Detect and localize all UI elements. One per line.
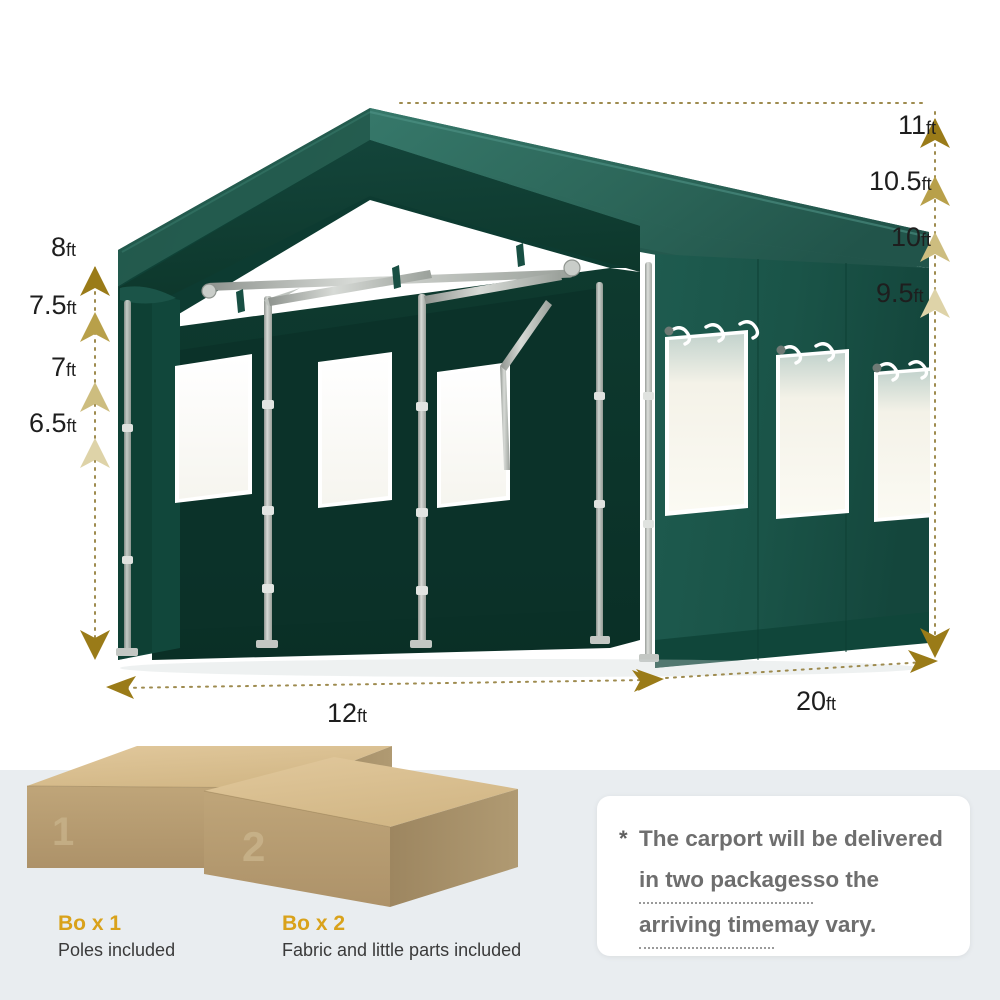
dim-line-width bbox=[118, 680, 648, 688]
package-2-title: Bo x 2 bbox=[282, 912, 521, 936]
dim-label-width: 12ft bbox=[327, 698, 367, 729]
dim-arrow-width-left bbox=[106, 676, 136, 699]
front-window-2 bbox=[318, 352, 392, 508]
front-window-3 bbox=[437, 362, 510, 508]
note-line-1-text: The carport will be delivered bbox=[639, 818, 943, 859]
dim-label-right-2: 10ft bbox=[891, 222, 931, 253]
package-boxes-illustration: 1 2 bbox=[0, 735, 580, 925]
side-window-3 bbox=[874, 367, 934, 522]
package-2-subtitle: Fabric and little parts included bbox=[282, 940, 521, 961]
dim-label-right-1: 10.5ft bbox=[869, 166, 932, 197]
ground-shadow bbox=[120, 659, 920, 677]
package-box-2: 2 bbox=[204, 757, 518, 907]
note-line-2-rest: so the bbox=[813, 859, 879, 900]
package-1-subtitle: Poles included bbox=[58, 940, 175, 961]
side-window-2 bbox=[776, 349, 849, 519]
package-box-2-number: 2 bbox=[242, 823, 265, 870]
note-line-2: in two packages so the bbox=[619, 859, 954, 904]
front-window-1 bbox=[175, 354, 252, 503]
note-line-3-rest: may vary. bbox=[774, 904, 876, 945]
package-caption-1: Bo x 1 Poles included bbox=[58, 912, 175, 961]
note-line-3: arriving time may vary. bbox=[619, 904, 954, 949]
dim-label-left-0: 8ft bbox=[51, 232, 76, 263]
carport-illustration bbox=[0, 0, 1000, 770]
dim-label-length: 20ft bbox=[796, 686, 836, 717]
dim-label-left-1: 7.5ft bbox=[29, 290, 77, 321]
note-line-1: * The carport will be delivered bbox=[619, 818, 954, 859]
product-size-infographic: Product Size bbox=[0, 0, 1000, 1000]
asterisk-icon: * bbox=[619, 818, 639, 859]
dim-label-right-3: 9.5ft bbox=[876, 278, 924, 309]
front-left-flap-shade bbox=[118, 288, 152, 660]
dim-label-right-0: 11ft bbox=[898, 110, 936, 141]
dim-label-left-3: 6.5ft bbox=[29, 408, 77, 439]
note-line-2-underlined: in two packages bbox=[639, 859, 813, 904]
dim-label-left-2: 7ft bbox=[51, 352, 76, 383]
delivery-note-card: * The carport will be delivered in two p… bbox=[597, 796, 970, 956]
note-line-3-underlined: arriving time bbox=[639, 904, 774, 949]
package-caption-2: Bo x 2 Fabric and little parts included bbox=[282, 912, 521, 961]
package-1-title: Bo x 1 bbox=[58, 912, 175, 936]
side-window-1 bbox=[665, 330, 748, 516]
package-box-1-number: 1 bbox=[52, 810, 74, 854]
